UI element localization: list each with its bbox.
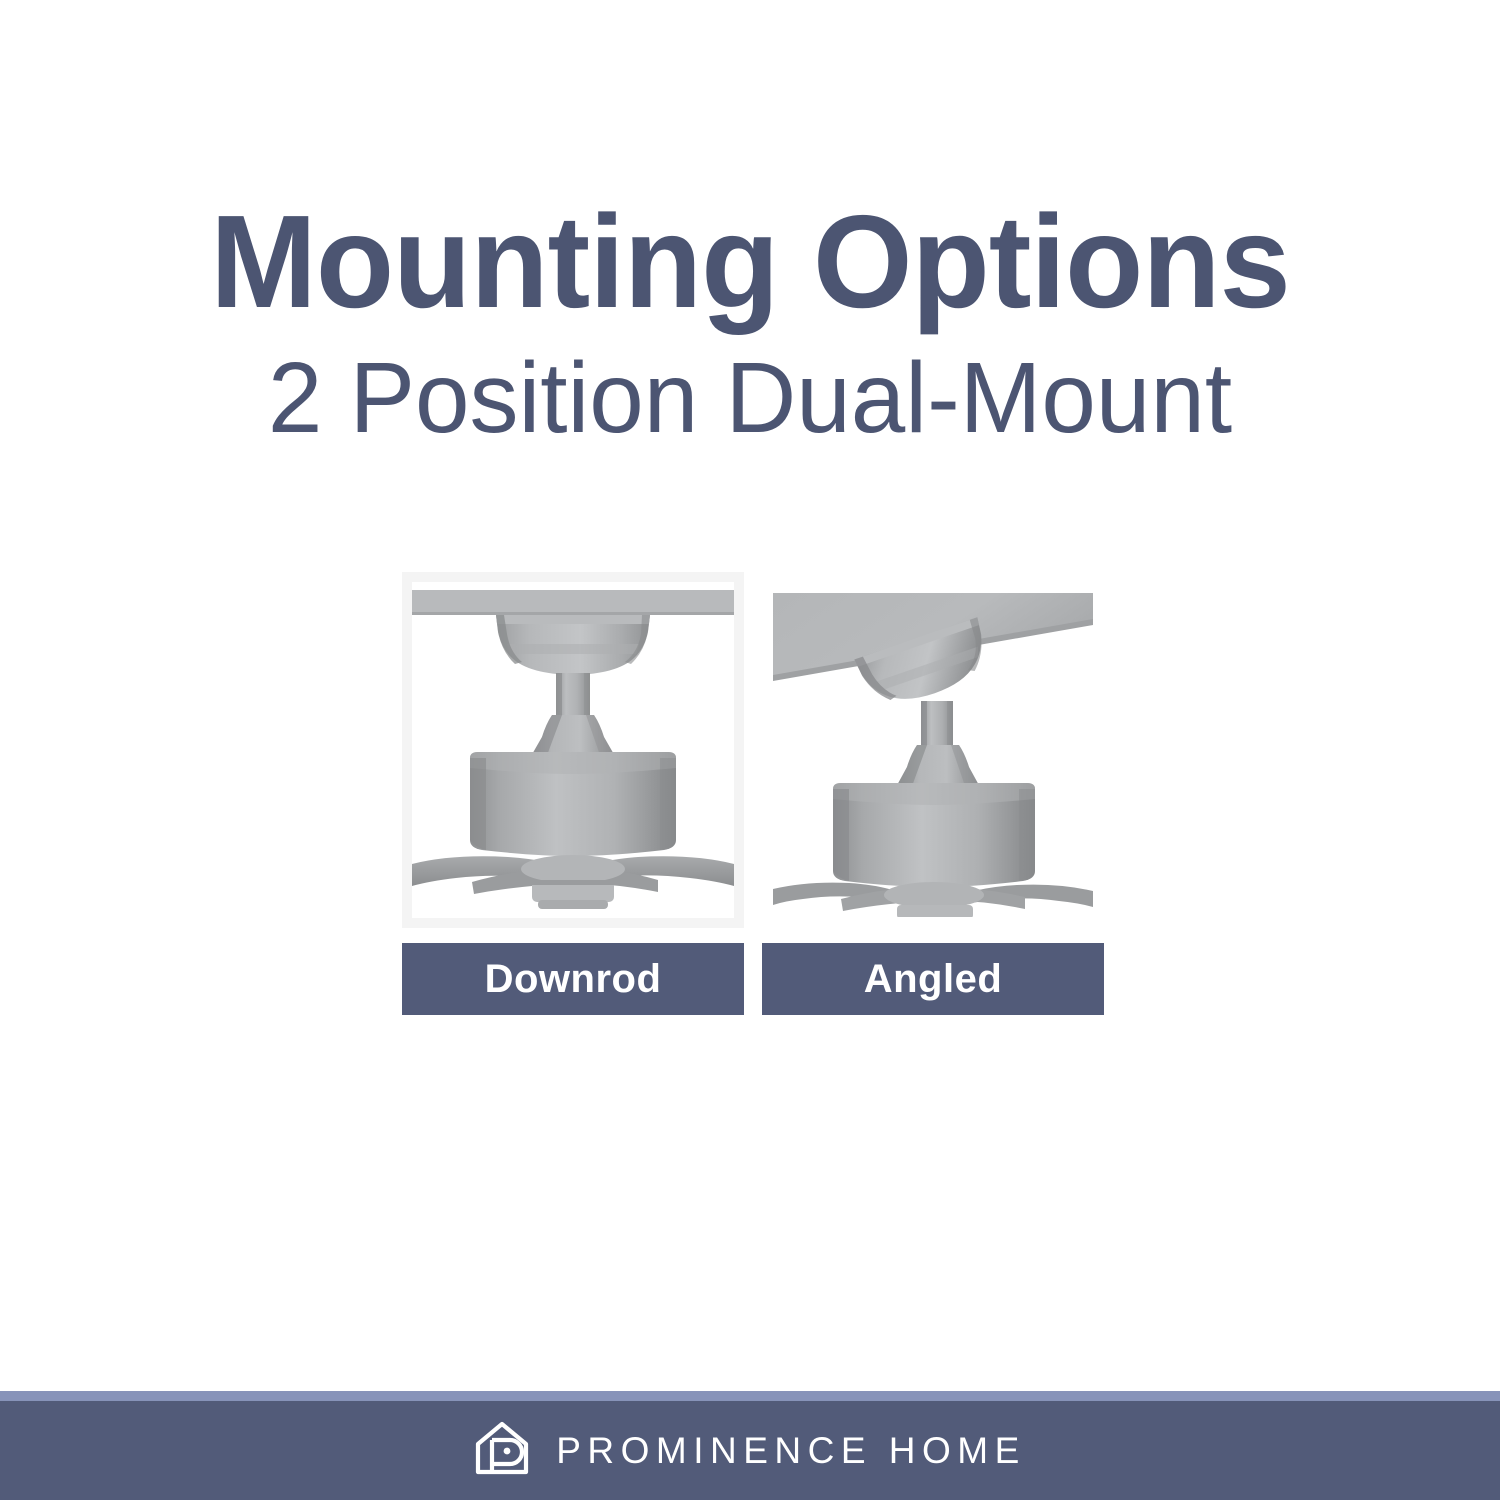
mounting-options-grid: Downrod [402, 572, 1104, 1015]
mounting-option-angled[interactable]: Angled [762, 572, 1104, 1015]
footer-accent-strip [0, 1391, 1500, 1401]
footer-bar: PROMINENCE HOME [0, 1401, 1500, 1500]
ceiling-fan-downrod-mount-illustration [412, 582, 734, 918]
page-header: Mounting Options 2 Position Dual-Mount [0, 196, 1500, 448]
downrod-label[interactable]: Downrod [402, 943, 744, 1015]
angled-image-frame [762, 572, 1104, 928]
downrod-image-frame [402, 572, 744, 928]
page-subtitle: 2 Position Dual-Mount [15, 348, 1485, 448]
angled-label[interactable]: Angled [762, 943, 1104, 1015]
brand-name-text: PROMINENCE HOME [556, 1430, 1026, 1472]
prominence-home-house-p-logo-icon [474, 1420, 530, 1481]
ceiling-fan-angled-mount-illustration [773, 583, 1093, 917]
mounting-option-downrod[interactable]: Downrod [402, 572, 744, 1015]
brand-lockup: PROMINENCE HOME [474, 1420, 1026, 1481]
page-title: Mounting Options [23, 196, 1478, 328]
